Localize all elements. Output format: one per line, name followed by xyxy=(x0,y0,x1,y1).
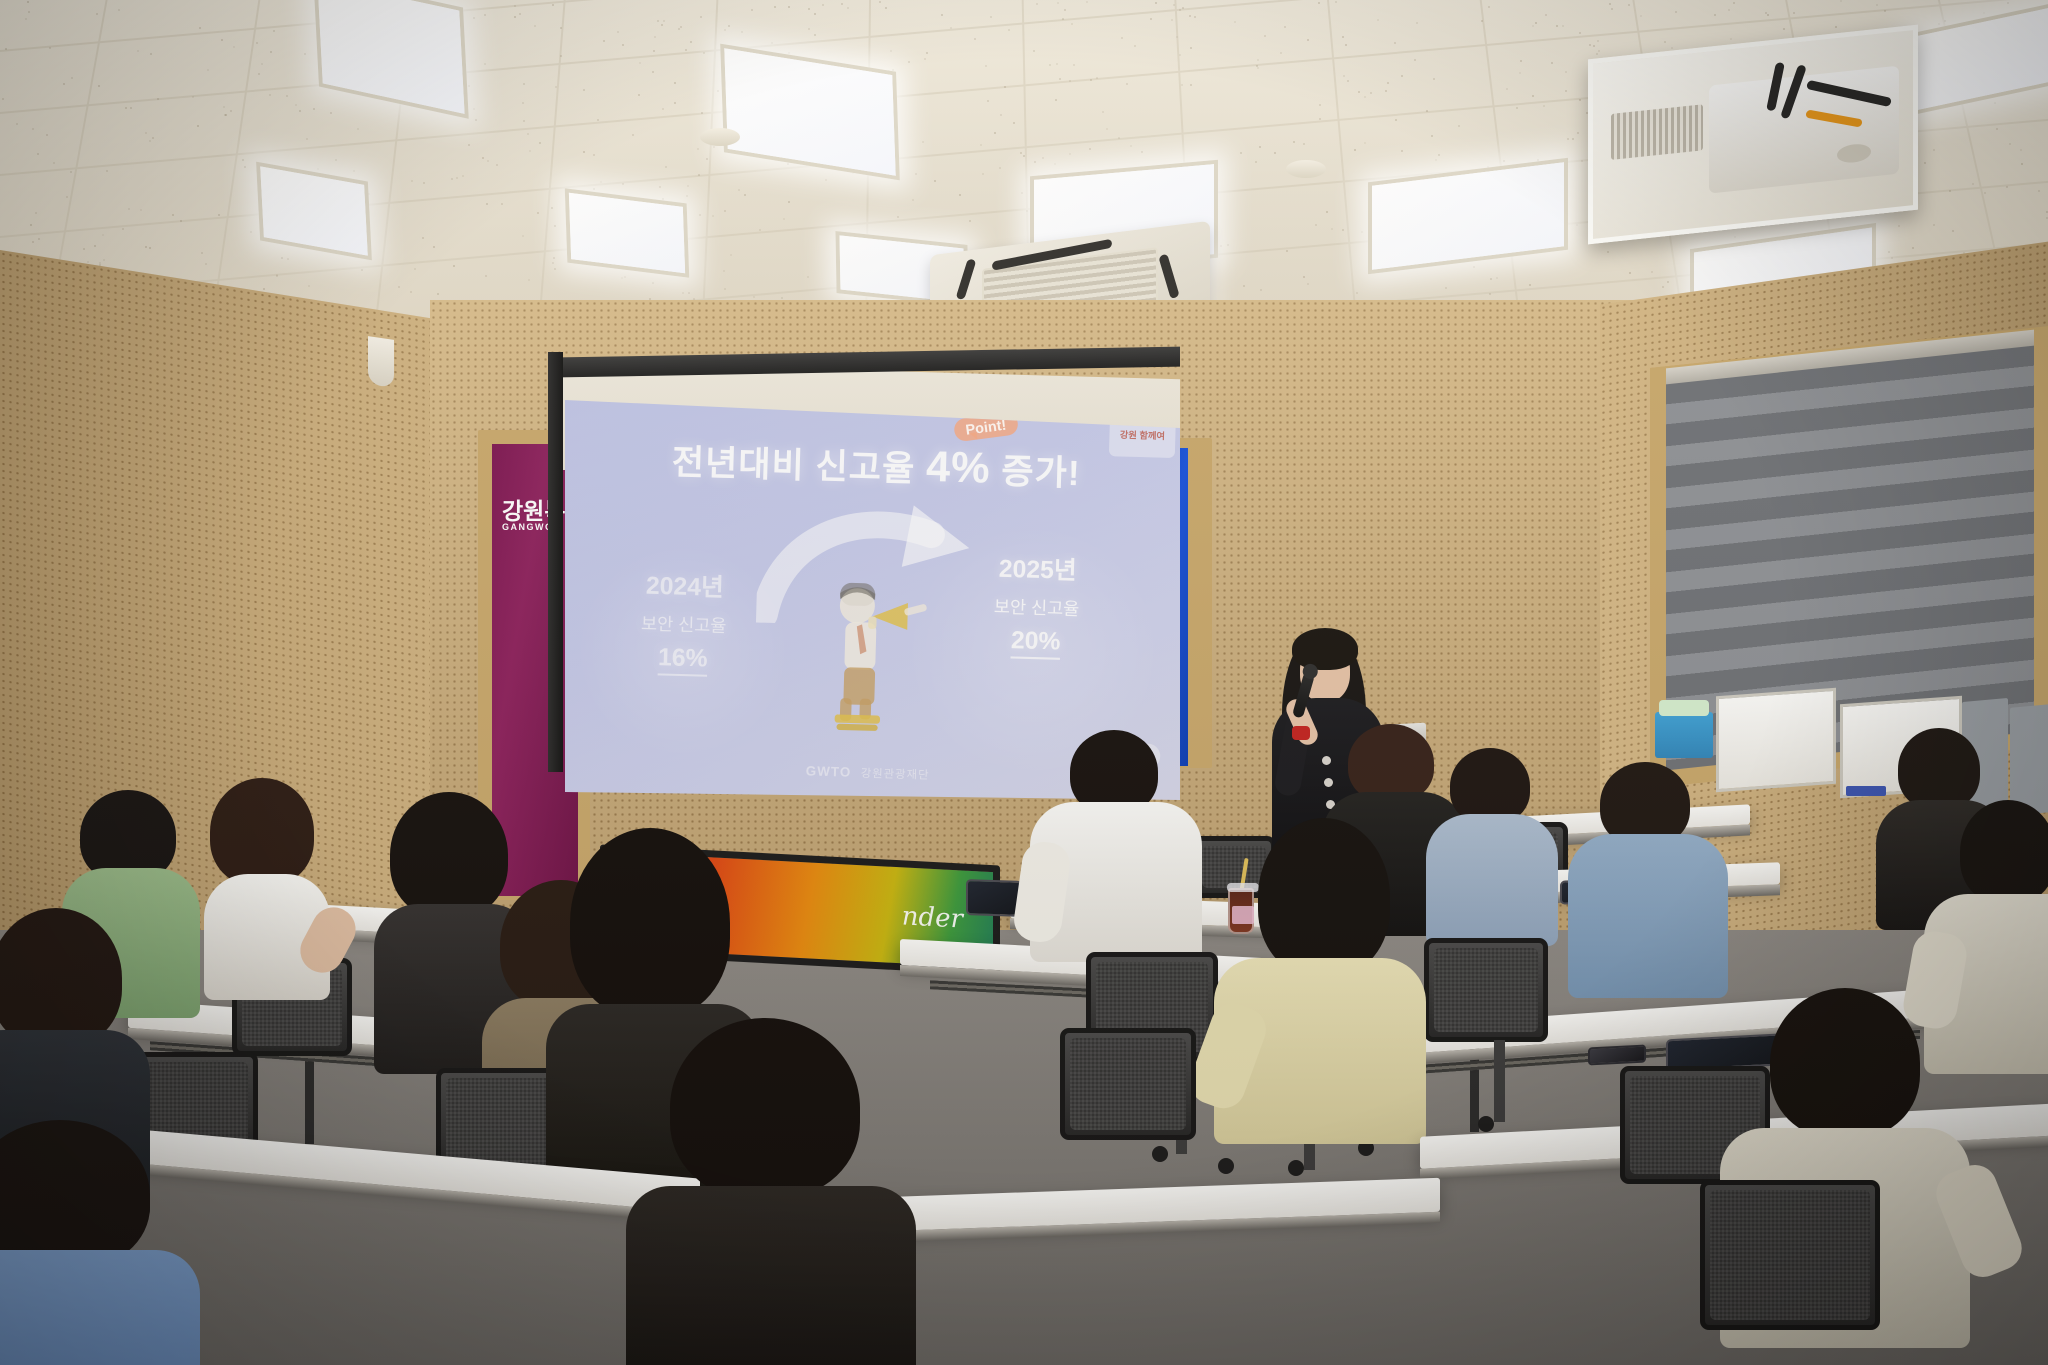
phone-on-table[interactable] xyxy=(1588,1044,1646,1065)
stat-2024-label: 보안 신고율 xyxy=(586,607,782,638)
stat-2025-value: 20% xyxy=(1010,627,1060,660)
hair xyxy=(1450,748,1530,824)
projector-mount-box xyxy=(1588,25,1918,245)
chair[interactable] xyxy=(1700,1180,1880,1330)
seminar-room-photo: 강원특별 GANGWO Point! 강원 함께여 전년대비 신고율 4% 증가… xyxy=(0,0,2048,1365)
screen-left-edge xyxy=(548,352,563,772)
cup-lid xyxy=(1227,883,1259,892)
cup-label xyxy=(1232,906,1254,924)
dress-button xyxy=(1324,778,1333,787)
presenter-wristband xyxy=(1292,726,1310,740)
supply-box xyxy=(1655,712,1713,758)
torso-blue-shirt xyxy=(0,1250,200,1365)
chair[interactable] xyxy=(1424,938,1548,1042)
hair xyxy=(670,1018,860,1198)
presenter-fringe xyxy=(1292,628,1358,670)
footer-logo-text: GWTO xyxy=(806,763,852,780)
smoke-detector-icon xyxy=(700,128,740,146)
torso-light-blue xyxy=(1426,814,1558,946)
hair xyxy=(1348,724,1434,802)
cup-body xyxy=(1228,888,1254,934)
hair xyxy=(1898,728,1980,810)
stat-2025-label: 보안 신고율 xyxy=(918,590,1156,622)
wall-sconce-light xyxy=(368,336,394,388)
stat-2025-year: 2025년 xyxy=(919,546,1157,589)
stat-2025: 2025년 보안 신고율 20% xyxy=(917,546,1157,663)
chair-wheel xyxy=(1478,1116,1494,1132)
projector-cable xyxy=(1766,62,1785,111)
hair xyxy=(0,908,122,1048)
headline-suffix: 증가! xyxy=(990,452,1081,494)
blue-folder xyxy=(1846,786,1886,796)
whiteboard-panel xyxy=(1716,688,1836,792)
rainbow-display-text: nder xyxy=(902,901,963,934)
stat-2024-value: 16% xyxy=(658,643,708,676)
wall-pocket-organizer xyxy=(2010,704,2048,815)
smoke-detector-icon xyxy=(1286,160,1326,178)
hair-long xyxy=(1258,818,1390,976)
ac-vane xyxy=(1158,253,1179,299)
stat-2024: 2024년 보안 신고율 16% xyxy=(585,563,784,679)
projector-cable xyxy=(1806,80,1892,107)
ceiling-light-panel xyxy=(565,188,690,277)
chair-wheel xyxy=(1152,1146,1168,1162)
stamp-text: 강원 함께여 xyxy=(1120,431,1165,442)
hair xyxy=(210,778,314,886)
torso-dark xyxy=(626,1186,916,1365)
megaphone-mascot-icon xyxy=(805,576,933,734)
projector-body xyxy=(1709,66,1899,194)
torso-blue-shirt xyxy=(1568,834,1728,998)
stat-2024-year: 2024년 xyxy=(587,563,784,605)
banner-purple-line2: GANGWO xyxy=(502,522,554,532)
projector-vent xyxy=(1611,104,1703,160)
projector-power-cable xyxy=(1805,109,1863,127)
chair-post xyxy=(1494,1040,1505,1122)
chair-wheel xyxy=(1288,1160,1304,1176)
ac-vane xyxy=(956,259,977,300)
footer-org-text: 강원관광재단 xyxy=(861,768,930,782)
headline-number: 4% xyxy=(925,442,991,492)
tablet-on-table[interactable] xyxy=(966,879,1022,917)
hair xyxy=(1770,988,1920,1138)
projector-lens-icon xyxy=(1837,143,1871,165)
chair-wheel xyxy=(1218,1158,1234,1174)
hair xyxy=(1960,800,2048,904)
slide-headline: 전년대비 신고율 4% 증가! xyxy=(565,431,1180,499)
chair[interactable] xyxy=(1060,1028,1196,1140)
dress-button xyxy=(1322,756,1331,765)
headline-prefix: 전년대비 신고율 xyxy=(671,443,926,489)
hair-long xyxy=(570,828,730,1018)
hair xyxy=(390,792,508,918)
projector-cable xyxy=(1780,64,1807,119)
